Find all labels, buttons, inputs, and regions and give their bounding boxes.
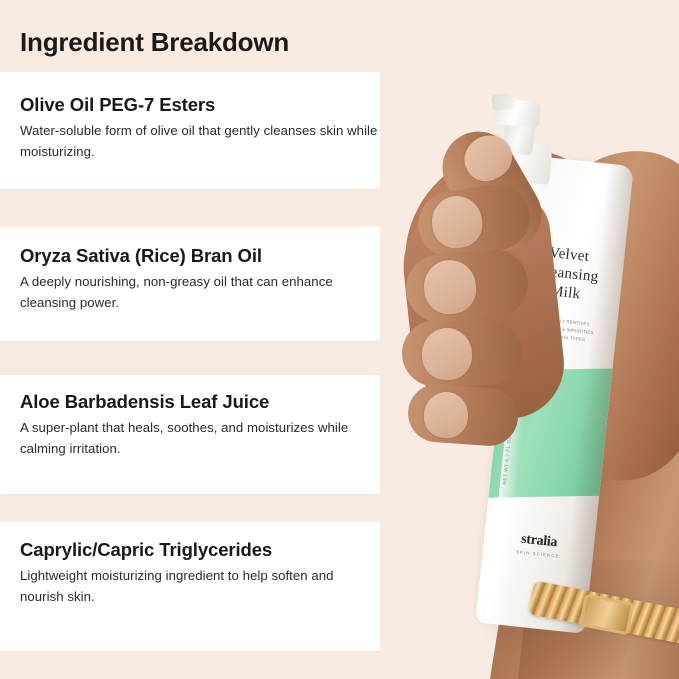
ingredient-card: Caprylic/Capric Triglycerides Lightweigh… <box>0 522 382 651</box>
page-title: Ingredient Breakdown <box>20 28 289 57</box>
pump-nozzle <box>491 93 515 112</box>
ingredient-name: Oryza Sativa (Rice) Bran Oil <box>20 245 262 267</box>
fingernail <box>422 328 473 381</box>
infographic-canvas: Ingredient Breakdown Olive Oil PEG-7 Est… <box>0 0 679 679</box>
ingredient-description: A deeply nourishing, non-greasy oil that… <box>20 271 381 314</box>
ingredient-card: Oryza Sativa (Rice) Bran Oil A deeply no… <box>0 227 395 341</box>
ingredient-description: Water-soluble form of olive oil that gen… <box>20 120 384 163</box>
ingredient-name: Aloe Barbadensis Leaf Juice <box>20 391 269 413</box>
ingredient-name: Caprylic/Capric Triglycerides <box>20 539 272 561</box>
product-photo: Velvet Cleansing Milk GENTLY REMOVES MAK… <box>380 0 679 679</box>
ingredient-card: Aloe Barbadensis Leaf Juice A super-plan… <box>0 375 382 494</box>
ingredient-description: A super-plant that heals, soothes, and m… <box>20 417 368 460</box>
ingredient-card: Olive Oil PEG-7 Esters Water-soluble for… <box>0 72 398 189</box>
ingredient-name: Olive Oil PEG-7 Esters <box>20 94 215 116</box>
ingredient-description: Lightweight moisturizing ingredient to h… <box>20 565 368 608</box>
